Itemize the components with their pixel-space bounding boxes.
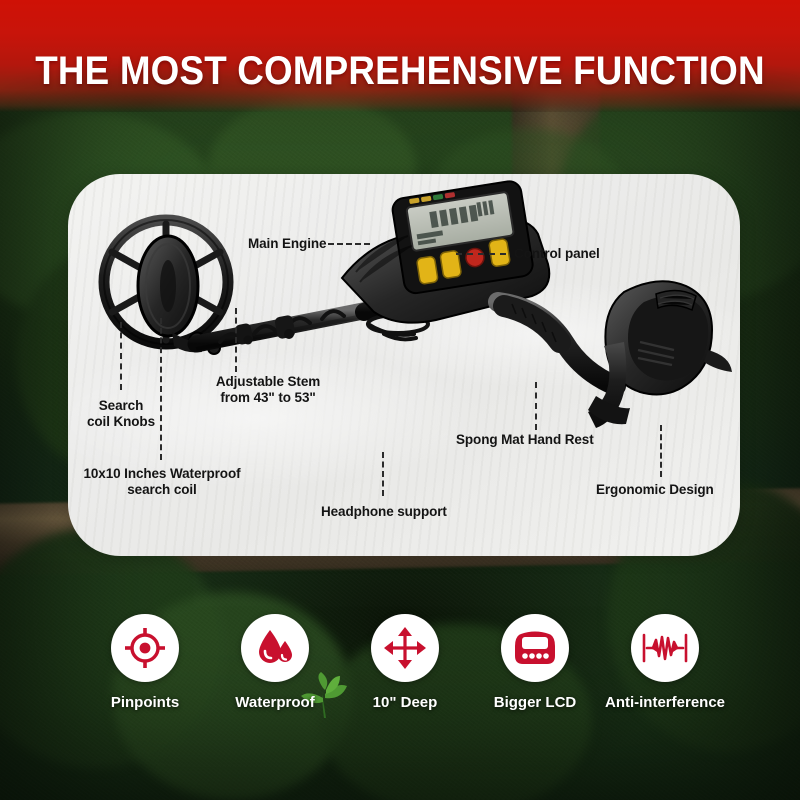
lcd-device-icon [513, 628, 557, 668]
page-title: THE MOST COMPREHENSIVE FUNCTION [32, 50, 768, 92]
metal-detector-illustration [68, 174, 740, 556]
target-crosshair-icon [124, 627, 166, 669]
handle-graphic [498, 302, 616, 386]
pinpoints-disc[interactable] [111, 614, 179, 682]
label-headphone-support: Headphone support [321, 504, 447, 520]
leader-ergonomic-design [660, 425, 662, 477]
leader-control-panel [456, 253, 506, 255]
label-search-coil: 10x10 Inches Waterproof search coil [62, 466, 262, 498]
label-main-engine: Main Engine [248, 236, 326, 252]
depth-disc[interactable] [371, 614, 439, 682]
product-panel [68, 174, 740, 556]
feature-anti-interference[interactable]: Anti-interference [595, 614, 735, 711]
leader-headphone-support [382, 452, 384, 496]
armrest-graphic [588, 281, 732, 428]
leader-spong-mat-hand-rest [535, 382, 537, 430]
leader-adjustable-stem [235, 308, 237, 372]
label-control-panel: Control panel [514, 246, 600, 262]
header-banner: THE MOST COMPREHENSIVE FUNCTION [0, 0, 800, 112]
anti-interference-disc[interactable] [631, 614, 699, 682]
label-spong-mat-hand-rest: Spong Mat Hand Rest [456, 432, 594, 448]
feature-pinpoints[interactable]: Pinpoints [75, 614, 215, 711]
feature-label: Waterproof [205, 694, 345, 711]
feature-label: Anti-interference [595, 694, 735, 711]
feature-waterproof[interactable]: Waterproof [205, 614, 345, 711]
waveform-signal-icon [642, 631, 688, 665]
waterproof-disc[interactable] [241, 614, 309, 682]
water-droplet-icon [254, 627, 296, 669]
bigger-lcd-disc[interactable] [501, 614, 569, 682]
leader-search-coil-knobs [120, 322, 122, 390]
four-way-arrows-icon [383, 626, 427, 670]
label-ergonomic-design: Ergonomic Design [596, 482, 714, 498]
leader-main-engine [328, 243, 370, 245]
control-button-left [416, 256, 438, 284]
product-infographic: THE MOST COMPREHENSIVE FUNCTION [0, 0, 800, 800]
feature-list: Pinpoints Waterproof [0, 614, 800, 764]
feature-label: Pinpoints [75, 694, 215, 711]
feature-bigger-lcd[interactable]: Bigger LCD [465, 614, 605, 711]
leader-search-coil [160, 318, 162, 460]
feature-label: Bigger LCD [465, 694, 605, 711]
feature-label: 10" Deep [335, 694, 475, 711]
label-search-coil-knobs: Search coil Knobs [78, 398, 164, 430]
label-adjustable-stem: Adjustable Stem from 43" to 53" [188, 374, 348, 406]
feature-depth[interactable]: 10" Deep [335, 614, 475, 711]
